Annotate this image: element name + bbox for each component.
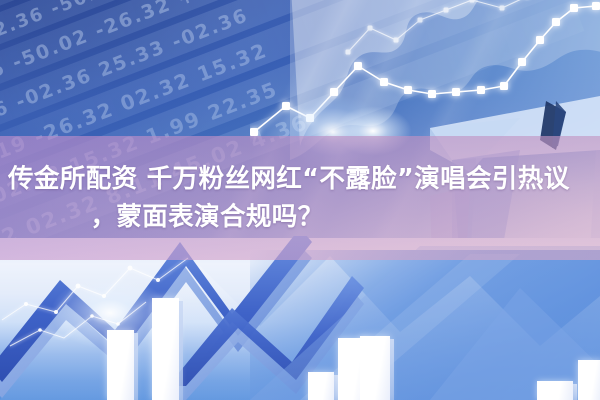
bar-column [107,330,134,400]
bar-column [578,360,600,400]
bar-column [308,372,334,400]
banner-image: -02.36 +9.95 -11.25 +5.02 21.092.36 -59.… [0,0,600,400]
headline-text: 传金所配资 千万粉丝网红“不露脸”演唱会引热议 ，蒙面表演合规吗？ [8,160,592,236]
headline-line-1: 传金所配资 千万粉丝网红“不露脸”演唱会引热议 [8,160,592,198]
headline-line-2: ，蒙面表演合规吗？ [8,198,592,236]
bar-column [537,381,573,400]
bar-column [360,336,390,400]
bar-column [152,298,179,400]
